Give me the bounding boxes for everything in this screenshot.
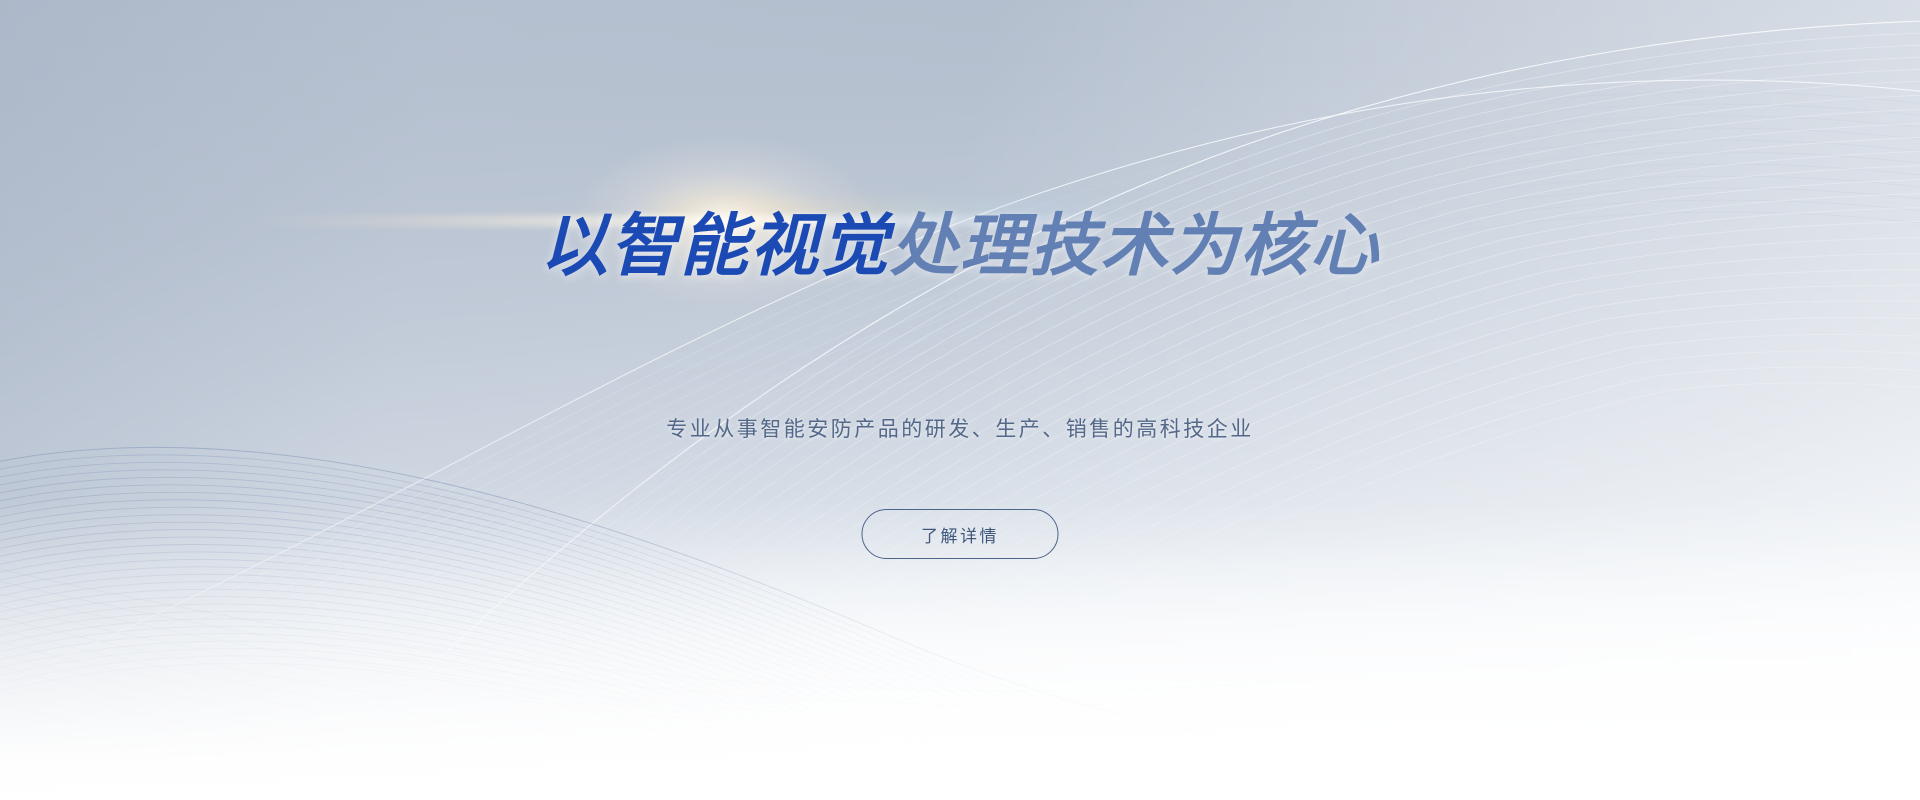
hero-banner: 以智能视觉处理技术为核心 专业从事智能安防产品的研发、生产、销售的高科技企业 了…: [0, 0, 1920, 800]
headline-segment-secondary: 处理技术为核心: [890, 208, 1380, 284]
hero-content: 以智能视觉处理技术为核心 专业从事智能安防产品的研发、生产、销售的高科技企业 了…: [0, 0, 1920, 800]
headline-segment-primary: 以智能视觉: [540, 208, 890, 284]
hero-headline: 以智能视觉处理技术为核心: [0, 212, 1920, 280]
learn-more-button[interactable]: 了解详情: [862, 509, 1059, 559]
hero-subtitle: 专业从事智能安防产品的研发、生产、销售的高科技企业: [0, 413, 1920, 443]
